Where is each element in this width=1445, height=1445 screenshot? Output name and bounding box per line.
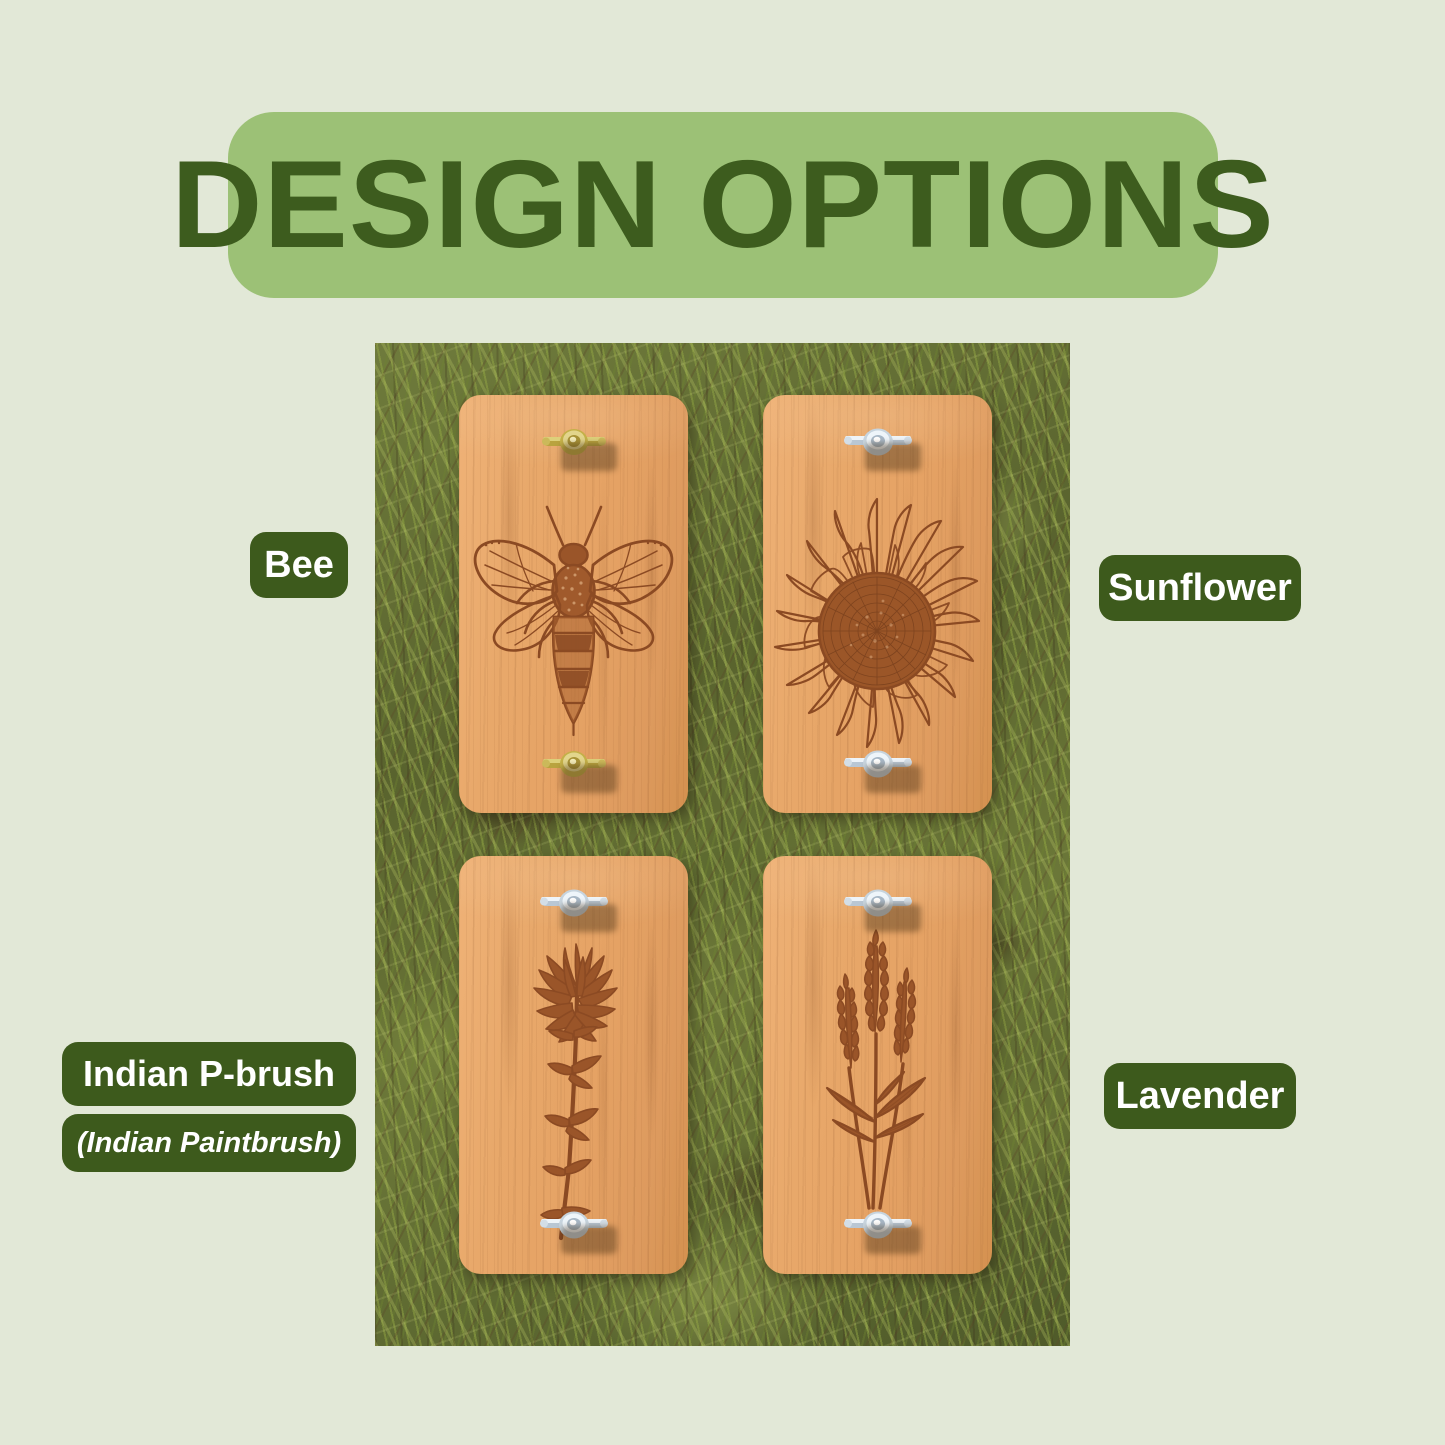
label-indian-paintbrush[interactable]: Indian P-brush bbox=[62, 1042, 356, 1106]
board-bee[interactable] bbox=[459, 395, 688, 813]
product-photo bbox=[375, 343, 1070, 1346]
indian-paintbrush-engraving bbox=[459, 856, 688, 1274]
label-sunflower[interactable]: Sunflower bbox=[1099, 555, 1301, 621]
page-title: DESIGN OPTIONS bbox=[171, 143, 1275, 267]
chrome-bracket-bottom bbox=[841, 1206, 915, 1246]
board-indian-paintbrush[interactable] bbox=[459, 856, 688, 1274]
label-bee[interactable]: Bee bbox=[250, 532, 348, 598]
design-options-banner: DESIGN OPTIONS bbox=[228, 112, 1218, 298]
bee-engraving bbox=[459, 395, 688, 813]
chrome-bracket-top bbox=[841, 884, 915, 924]
sunflower-engraving bbox=[763, 395, 992, 813]
chrome-bracket-top bbox=[537, 884, 611, 924]
label-lavender[interactable]: Lavender bbox=[1104, 1063, 1296, 1129]
lavender-engraving bbox=[763, 856, 992, 1274]
wood-grain bbox=[763, 395, 992, 813]
brass-bracket-bottom bbox=[537, 745, 611, 785]
chrome-bracket-bottom bbox=[841, 745, 915, 785]
brass-bracket-top bbox=[537, 423, 611, 463]
label-indian-paintbrush-full[interactable]: (Indian Paintbrush) bbox=[62, 1114, 356, 1172]
chrome-bracket-top bbox=[841, 423, 915, 463]
board-sunflower[interactable] bbox=[763, 395, 992, 813]
wood-grain bbox=[459, 856, 688, 1274]
board-lavender[interactable] bbox=[763, 856, 992, 1274]
wood-grain bbox=[763, 856, 992, 1274]
wood-grain bbox=[459, 395, 688, 813]
chrome-bracket-bottom bbox=[537, 1206, 611, 1246]
